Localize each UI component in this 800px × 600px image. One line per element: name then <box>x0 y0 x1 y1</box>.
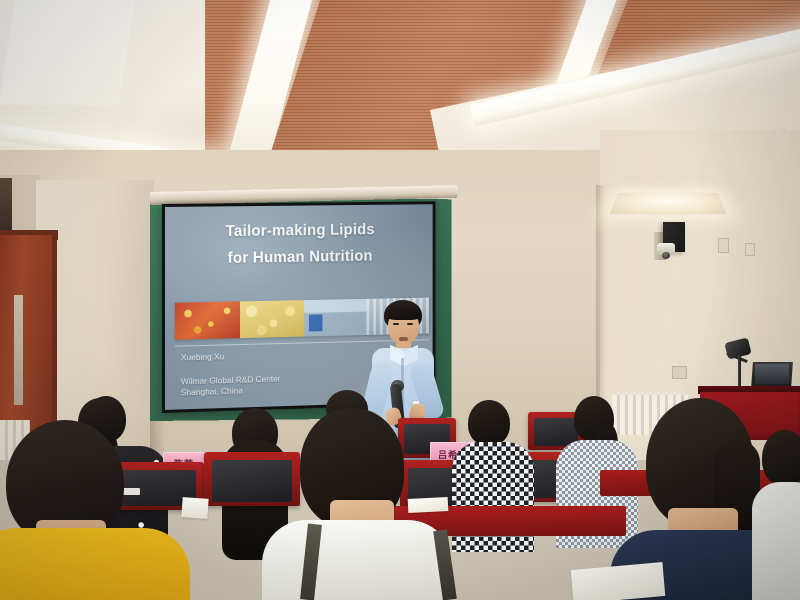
notebook-page-right <box>571 562 666 600</box>
slide-affiliation-line2: Shanghai, China <box>181 384 281 398</box>
wall-outlet-upper-2 <box>745 243 755 256</box>
slide-title-line2: for Human Nutrition <box>165 242 433 273</box>
cctv-camera-lens-icon <box>662 252 670 259</box>
wall-panel-left <box>0 178 12 233</box>
soybean-photo <box>240 300 304 338</box>
slide-title-line1: Tailor-making Lipids <box>226 221 375 240</box>
audience-torso <box>752 482 800 600</box>
slide-author: Xuebing Xu <box>181 351 224 362</box>
ceiling-soffit-highlight <box>0 0 138 105</box>
seat-pad-mid-2 <box>212 460 292 502</box>
presenter-hair-front <box>386 307 421 320</box>
lecture-hall-photo: Tailor-making Lipids for Human Nutrition… <box>0 0 800 600</box>
wall-outlet-upper <box>718 238 729 253</box>
audience-torso <box>0 528 190 600</box>
audience-head <box>762 430 800 486</box>
wall-socket <box>672 366 687 379</box>
presenter-mouth <box>399 337 408 341</box>
palm-fruit-photo <box>175 301 240 339</box>
slide-affiliation: Wilmar Global R&D Center Shanghai, China <box>181 374 281 399</box>
audience-torso <box>262 520 452 600</box>
notebook-page-left <box>181 497 208 519</box>
laptop-screen <box>755 364 789 384</box>
processing-plant-photo <box>304 299 367 337</box>
recessed-ceiling-light <box>607 192 729 216</box>
notebook-page-mid <box>408 497 449 513</box>
slide-title: Tailor-making Lipids for Human Nutrition <box>165 216 433 273</box>
door-glass-panel <box>14 295 23 405</box>
audience-head <box>468 400 510 446</box>
